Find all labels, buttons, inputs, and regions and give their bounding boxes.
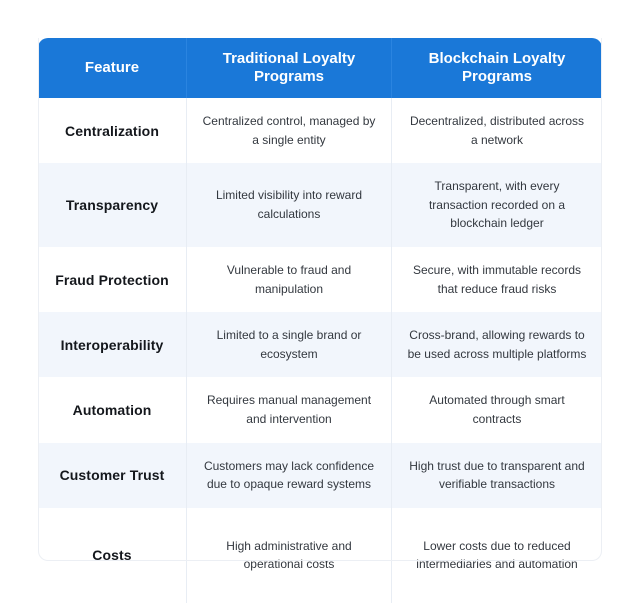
- table-body: Centralization Centralized control, mana…: [38, 98, 602, 603]
- column-header-blockchain: Blockchain Loyalty Programs: [392, 38, 602, 98]
- row-feature-label: Fraud Protection: [38, 247, 187, 312]
- table-row: Customer Trust Customers may lack confid…: [38, 443, 602, 508]
- row-feature-label: Customer Trust: [38, 443, 187, 508]
- row-blockchain-value: Decentralized, distributed across a netw…: [392, 98, 602, 163]
- row-feature-label: Transparency: [38, 163, 187, 247]
- column-header-feature: Feature: [38, 38, 187, 98]
- row-blockchain-value: Cross-brand, allowing rewards to be used…: [392, 312, 602, 377]
- row-feature-label: Costs: [38, 508, 187, 603]
- row-feature-label: Centralization: [38, 98, 187, 163]
- table-row: Centralization Centralized control, mana…: [38, 98, 602, 163]
- loyalty-comparison-table: Feature Traditional Loyalty Programs Blo…: [38, 38, 602, 603]
- row-traditional-value: Customers may lack confidence due to opa…: [187, 443, 392, 508]
- row-traditional-value: Vulnerable to fraud and manipulation: [187, 247, 392, 312]
- row-blockchain-value: High trust due to transparent and verifi…: [392, 443, 602, 508]
- table-header-row: Feature Traditional Loyalty Programs Blo…: [38, 38, 602, 98]
- row-feature-label: Interoperability: [38, 312, 187, 377]
- row-traditional-value: Centralized control, managed by a single…: [187, 98, 392, 163]
- row-traditional-value: High administrative and operational cost…: [187, 508, 392, 603]
- row-blockchain-value: Secure, with immutable records that redu…: [392, 247, 602, 312]
- table-row: Automation Requires manual management an…: [38, 377, 602, 442]
- column-header-traditional: Traditional Loyalty Programs: [187, 38, 392, 98]
- page-root: Feature Traditional Loyalty Programs Blo…: [0, 0, 641, 600]
- row-feature-label: Automation: [38, 377, 187, 442]
- row-blockchain-value: Lower costs due to reduced intermediarie…: [392, 508, 602, 603]
- table-header: Feature Traditional Loyalty Programs Blo…: [38, 38, 602, 98]
- row-blockchain-value: Automated through smart contracts: [392, 377, 602, 442]
- comparison-table-container: Feature Traditional Loyalty Programs Blo…: [38, 38, 602, 561]
- row-traditional-value: Limited to a single brand or ecosystem: [187, 312, 392, 377]
- table-row: Fraud Protection Vulnerable to fraud and…: [38, 247, 602, 312]
- row-blockchain-value: Transparent, with every transaction reco…: [392, 163, 602, 247]
- table-row: Costs High administrative and operationa…: [38, 508, 602, 603]
- row-traditional-value: Requires manual management and intervent…: [187, 377, 392, 442]
- table-row: Interoperability Limited to a single bra…: [38, 312, 602, 377]
- table-row: Transparency Limited visibility into rew…: [38, 163, 602, 247]
- row-traditional-value: Limited visibility into reward calculati…: [187, 163, 392, 247]
